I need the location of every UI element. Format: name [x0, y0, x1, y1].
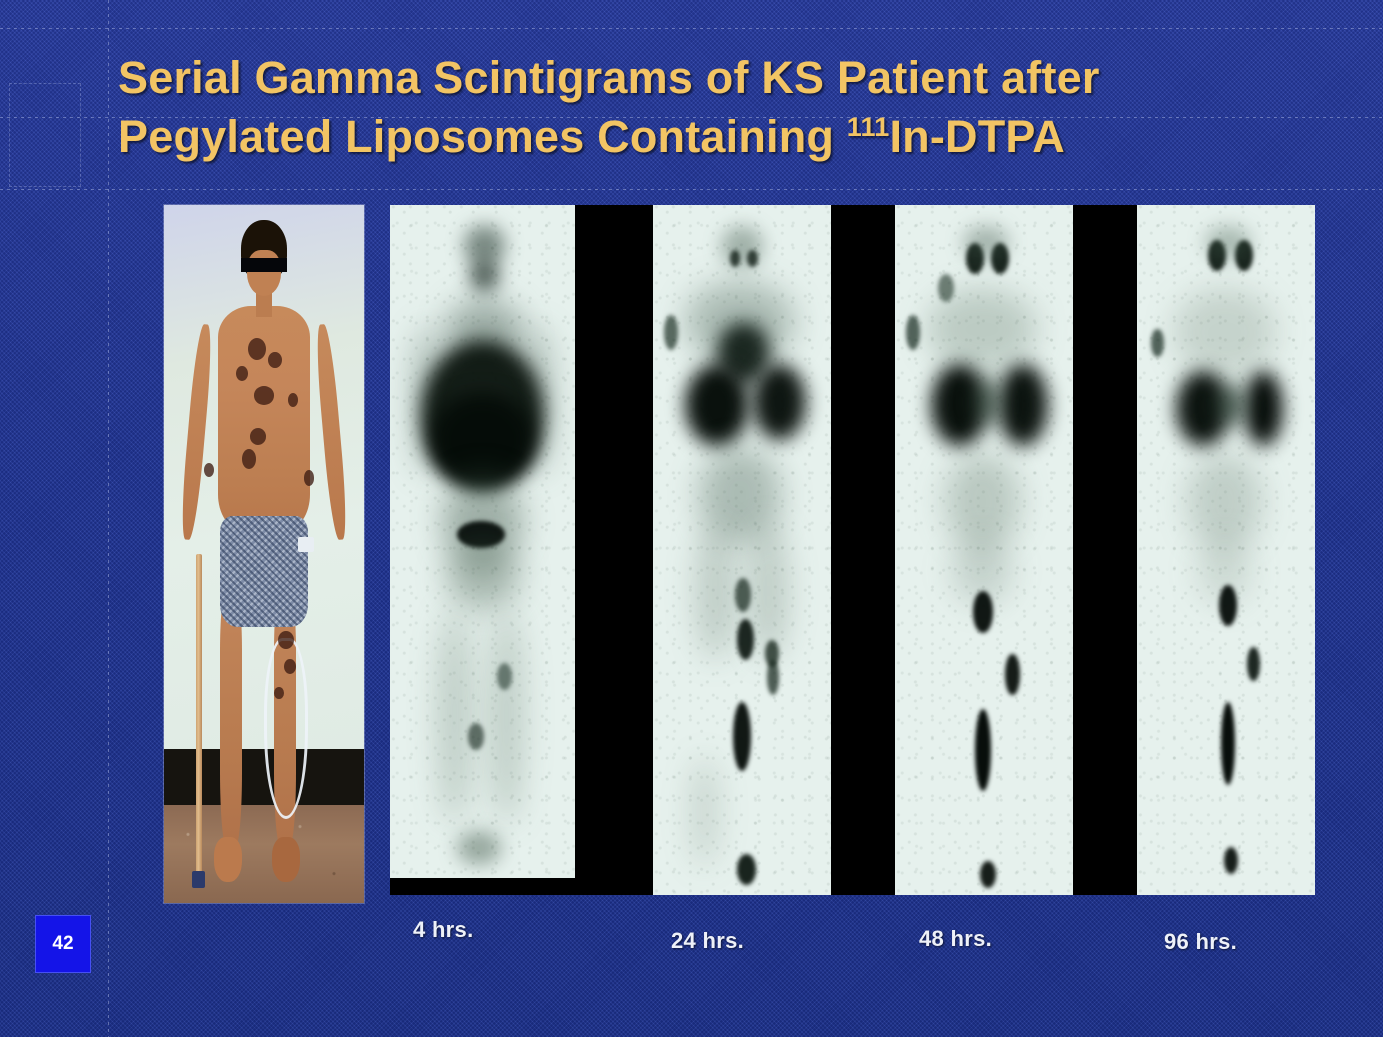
panel-separator	[575, 205, 653, 895]
scintigram-4hrs	[390, 205, 575, 878]
ks-skin-lesion	[242, 449, 256, 469]
patient-left-leg	[220, 596, 242, 847]
time-label-24hrs: 24 hrs.	[671, 928, 744, 954]
uptake-ks-lesion	[735, 578, 751, 613]
uptake-leg-lesion	[497, 663, 512, 690]
ks-skin-lesion	[274, 687, 284, 700]
guide-line-horizontal-bottom	[0, 189, 1383, 190]
title-line-1: Serial Gamma Scintigrams of KS Patient a…	[118, 48, 1298, 107]
isotope-mass-number: 111	[847, 112, 890, 142]
scintigram-96hrs	[1137, 205, 1315, 895]
time-label-48hrs: 48 hrs.	[919, 926, 992, 952]
guide-line-vertical-left	[108, 0, 109, 1037]
uptake-spleen	[1244, 371, 1283, 447]
uptake-ks-lesion	[1005, 654, 1019, 695]
uptake-left-thigh	[696, 522, 735, 660]
uptake-skull	[963, 226, 1009, 261]
slide-number-badge: 42	[35, 915, 91, 973]
time-label-4hrs: 4 hrs.	[413, 917, 474, 943]
ks-skin-lesion	[284, 659, 296, 674]
uptake-thorax-background	[1173, 288, 1276, 378]
title-line-2: Pegylated Liposomes Containing 111In-DTP…	[118, 107, 1298, 166]
ks-skin-lesion	[254, 386, 274, 404]
uptake-ks-lesion-tibial	[1221, 702, 1235, 785]
uptake-axilla-lesion	[664, 315, 678, 350]
title-line-2-suffix: In-DTPA	[889, 111, 1065, 162]
ks-skin-lesion	[248, 338, 266, 360]
photo-baseboard	[164, 749, 364, 805]
privacy-eye-bar	[241, 258, 287, 272]
ks-skin-lesion	[278, 631, 294, 649]
guide-line-horizontal-top	[0, 28, 1383, 29]
ks-skin-lesion	[304, 470, 314, 485]
uptake-spleen	[998, 364, 1048, 447]
panel-separator	[1073, 205, 1137, 895]
uptake-left-calf	[692, 757, 717, 867]
ks-skin-lesion	[250, 428, 266, 445]
uptake-orbit-left	[730, 250, 741, 267]
uptake-right-leg	[490, 609, 523, 824]
uptake-ks-lesion-tibial	[733, 702, 751, 771]
title-line-2-prefix: Pegylated Liposomes Containing	[118, 111, 847, 162]
uptake-pelvis	[446, 542, 520, 609]
presentation-slide: Serial Gamma Scintigrams of KS Patient a…	[0, 0, 1383, 1037]
walking-cane-tip	[192, 871, 205, 888]
photo-floor	[164, 805, 364, 903]
uptake-foot-lesion	[737, 854, 757, 885]
patient-left-foot	[214, 837, 242, 882]
ks-skin-lesion	[268, 352, 282, 369]
uptake-axilla-lesion	[1151, 329, 1163, 357]
panel-separator	[831, 205, 895, 895]
uptake-skull	[1205, 226, 1251, 261]
ks-patient-photograph	[164, 205, 364, 903]
uptake-spleen	[753, 364, 806, 440]
uptake-shoulders	[927, 288, 1037, 371]
scintigram-panel-strip	[390, 205, 1315, 895]
patient-right-foot	[272, 837, 300, 882]
guide-box-left	[9, 83, 81, 187]
uptake-ks-lesion-thigh	[973, 591, 993, 632]
scintigram-24hrs	[653, 205, 831, 895]
uptake-ks-lesion	[1247, 647, 1259, 682]
patient-torso	[218, 306, 310, 529]
ks-skin-lesion	[236, 366, 248, 381]
scintigram-48hrs	[895, 205, 1073, 895]
uptake-midline-bridge	[1215, 384, 1247, 425]
uptake-orbit-right	[747, 250, 758, 267]
uptake-axilla-lesion	[906, 315, 920, 350]
uptake-liver	[685, 364, 749, 447]
uptake-feet	[457, 831, 501, 865]
patient-wristband	[298, 537, 314, 552]
uptake-ks-lesion-thigh	[1219, 585, 1237, 626]
time-label-96hrs: 96 hrs.	[1164, 929, 1237, 955]
walking-cane	[196, 554, 202, 882]
uptake-midline-bridge	[973, 378, 1001, 426]
patient-shorts	[220, 516, 308, 628]
slide-title: Serial Gamma Scintigrams of KS Patient a…	[118, 48, 1298, 166]
